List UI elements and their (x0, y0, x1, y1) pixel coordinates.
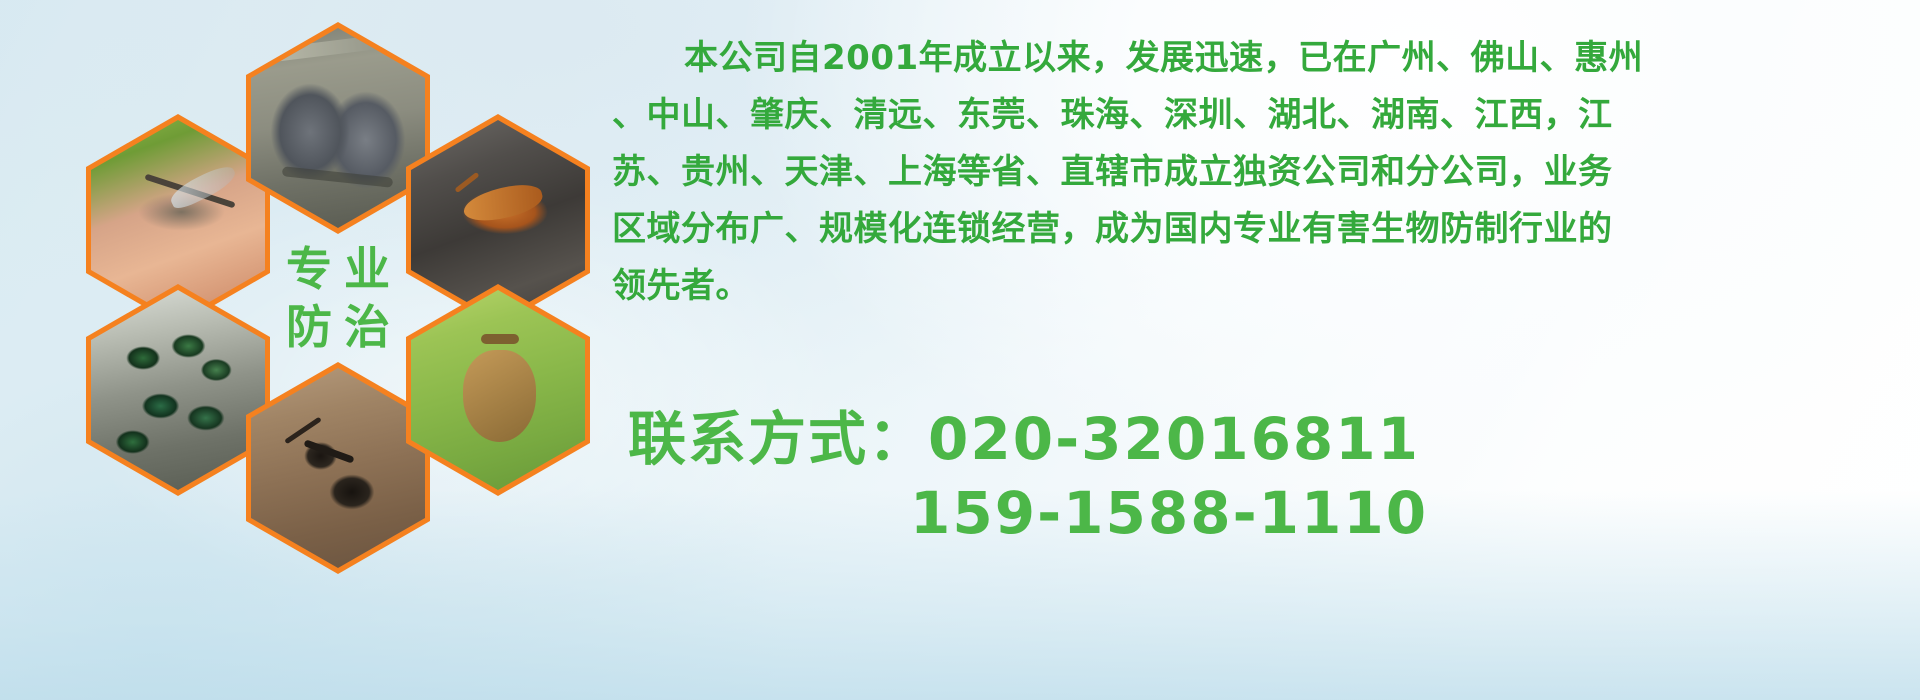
contact-phone-primary[interactable]: 联系方式：020-32016811 (628, 402, 1898, 476)
contact-block: 联系方式：020-32016811 159-1588-1110 (628, 402, 1898, 550)
hexagon-photo-cluster: 专业 防治 (86, 8, 606, 568)
about-line-2: 、中山、肇庆、清远、东莞、珠海、深圳、湖北、湖南、江西，江 (612, 87, 1902, 144)
hex-slogan: 专业 防治 (246, 192, 430, 404)
slogan-text-block: 专业 防治 (246, 192, 430, 404)
about-line-1: 本公司自2001年成立以来，发展迅速，已在广州、佛山、惠州 (612, 30, 1902, 87)
stink-bug-photo-icon (411, 290, 585, 490)
hex-photo-flies-inner (91, 290, 265, 490)
promo-banner: 专业 防治 本公司自2001年成立以来，发展迅速，已在广州、佛山、惠州 、中山、… (0, 0, 1920, 700)
fly-photo-icon (91, 290, 265, 490)
slogan-line-1: 专业 (274, 246, 402, 292)
about-paragraph: 本公司自2001年成立以来，发展迅速，已在广州、佛山、惠州 、中山、肇庆、清远、… (612, 30, 1902, 315)
contact-phone-mobile[interactable]: 159-1588-1110 (628, 476, 1898, 550)
hex-photo-stink-bug (406, 284, 590, 496)
text-column: 本公司自2001年成立以来，发展迅速，已在广州、佛山、惠州 、中山、肇庆、清远、… (612, 30, 1902, 670)
hex-photo-stink-bug-inner (411, 290, 585, 490)
slogan-line-2: 防治 (274, 304, 402, 350)
about-line-3: 苏、贵州、天津、上海等省、直辖市成立独资公司和分公司，业务 (612, 144, 1902, 201)
hex-photo-flies (86, 284, 270, 496)
about-line-4: 区域分布广、规模化连锁经营，成为国内专业有害生物防制行业的 (612, 201, 1902, 258)
about-line-5: 领先者。 (612, 258, 1902, 315)
